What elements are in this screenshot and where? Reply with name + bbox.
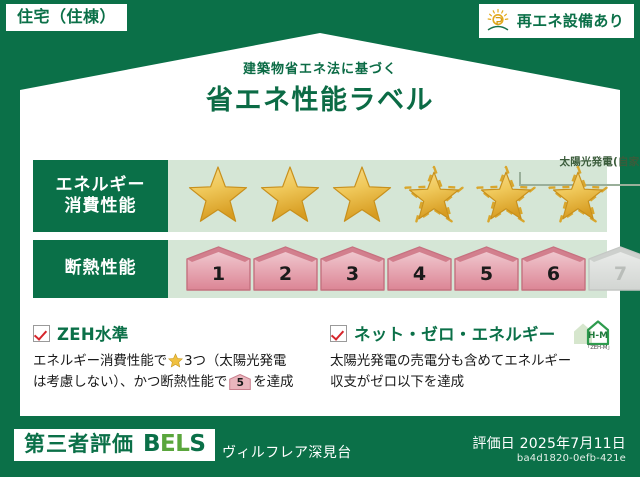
energy-performance-label: 住宅（住棟） 再エネ設備あり 建築物省エネ法に基づく 省エネ性能ラベル エネルギ… xyxy=(0,0,640,477)
insulation-level-2: 2 xyxy=(251,245,320,293)
check-icon xyxy=(33,325,50,342)
renewable-badge-label: 再エネ設備あり xyxy=(517,14,624,29)
criterion-zeh-text-4: を達成 xyxy=(253,374,293,390)
building-type-tag: 住宅（住棟） xyxy=(6,4,127,31)
insulation-level-6: 6 xyxy=(519,245,588,293)
insulation-level-value: 7 xyxy=(614,265,627,293)
svg-text:H-M: H-M xyxy=(587,331,607,341)
energy-star-rating xyxy=(168,160,607,232)
criterion-nze-body: 太陽光発電の売電分も含めてエネルギー収支がゼロ以下を達成 xyxy=(330,351,610,393)
star-icon xyxy=(168,353,183,368)
energy-performance-row: エネルギー 消費性能 太陽光発電(自家消費)分 xyxy=(33,160,607,232)
star-solar xyxy=(544,163,612,229)
bels-jp-label: 第三者評価 xyxy=(24,434,134,455)
zeh-m-logo: H-M 「ZEH-M」 xyxy=(565,318,611,348)
label-footer: 第三者評価 BELS ヴィルフレア深見台 評価日 2025年7月11日 ba4d… xyxy=(0,416,640,477)
star-filled xyxy=(184,163,252,229)
page-title: 省エネ性能ラベル xyxy=(0,78,640,117)
bels-letter-el: EL xyxy=(160,431,189,457)
insulation-row-value: 1234567 xyxy=(168,240,607,298)
inline-insulation-badge: 5 xyxy=(229,374,251,390)
building-type-tag-label: 住宅（住棟） xyxy=(17,7,116,26)
star-filled xyxy=(328,163,396,229)
energy-row-key-line2: 消費性能 xyxy=(65,196,137,217)
criterion-zeh-body: エネルギー消費性能で3つ（太陽光発電は考慮しない）、かつ断熱性能で5を達成 xyxy=(33,351,313,393)
label-subtitle: 建築物省エネ法に基づく xyxy=(0,58,640,77)
insulation-level-value: 5 xyxy=(480,265,493,293)
criterion-zeh-text-2: 3つ（太陽光発電 xyxy=(184,353,286,369)
bels-logo: 第三者評価 BELS xyxy=(14,429,215,461)
energy-row-key: エネルギー 消費性能 xyxy=(33,160,168,232)
criterion-net-zero-energy: ネット・ゼロ・エネルギー H-M 「ZEH-M」 太陽光発電の売電分も含めてエネ… xyxy=(330,322,610,393)
criterion-nze-text-line2: 収支がゼロ以下を達成 xyxy=(330,374,464,390)
insulation-row-key-line1: 断熱性能 xyxy=(65,258,137,279)
sun-icon xyxy=(485,8,511,34)
criterion-zeh-text-1: エネルギー消費性能で xyxy=(33,353,167,369)
bels-letter-s: S xyxy=(189,431,205,457)
zeh-m-caption: 「ZEH-M」 xyxy=(585,343,613,351)
insulation-level-3: 3 xyxy=(318,245,387,293)
evaluation-date: 評価日 2025年7月11日 xyxy=(472,433,626,453)
criterion-zeh: ZEH水準 エネルギー消費性能で3つ（太陽光発電は考慮しない）、かつ断熱性能で5… xyxy=(33,322,313,393)
renewable-equipment-badge: 再エネ設備あり xyxy=(479,4,634,38)
bels-en-label: BELS xyxy=(143,433,205,456)
insulation-row-key: 断熱性能 xyxy=(33,240,168,298)
insulation-level-5: 5 xyxy=(452,245,521,293)
star-icon xyxy=(472,163,540,229)
insulation-level-value: 4 xyxy=(413,265,426,293)
bels-letter-b: B xyxy=(143,431,160,457)
star-filled xyxy=(256,163,324,229)
insulation-level-value: 1 xyxy=(212,265,225,293)
criterion-nze-title: ネット・ゼロ・エネルギー xyxy=(354,321,556,345)
star-icon xyxy=(184,163,252,229)
star-solar xyxy=(472,163,540,229)
evaluation-id: ba4d1820-0efb-421e xyxy=(517,453,626,464)
energy-row-value: 太陽光発電(自家消費)分 xyxy=(168,160,607,232)
star-icon xyxy=(544,163,612,229)
criterion-nze-text-line1: 太陽光発電の売電分も含めてエネルギー xyxy=(330,353,571,369)
insulation-performance-row: 断熱性能 1234567 xyxy=(33,240,607,298)
insulation-level-value: 3 xyxy=(346,265,359,293)
criterion-nze-header: ネット・ゼロ・エネルギー H-M 「ZEH-M」 xyxy=(330,322,610,344)
insulation-level-4: 4 xyxy=(385,245,454,293)
check-icon xyxy=(330,325,347,342)
criterion-zeh-text-3: は考慮しない）、かつ断熱性能で xyxy=(33,374,227,390)
energy-row-key-line1: エネルギー xyxy=(56,175,146,196)
criterion-zeh-title: ZEH水準 xyxy=(57,321,129,345)
star-icon xyxy=(328,163,396,229)
insulation-level-value: 6 xyxy=(547,265,560,293)
inline-insulation-value: 5 xyxy=(229,378,251,389)
insulation-level-1: 1 xyxy=(184,245,253,293)
star-icon xyxy=(400,163,468,229)
star-solar xyxy=(400,163,468,229)
building-name: ヴィルフレア深見台 xyxy=(222,442,352,462)
criterion-zeh-header: ZEH水準 xyxy=(33,322,313,344)
insulation-level-7: 7 xyxy=(586,245,640,293)
insulation-level-value: 2 xyxy=(279,265,292,293)
insulation-level-scale: 1234567 xyxy=(168,240,607,298)
star-icon xyxy=(256,163,324,229)
